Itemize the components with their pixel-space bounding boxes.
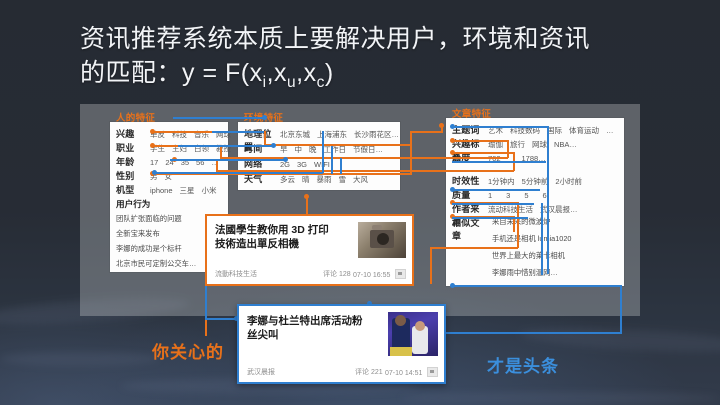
slide-title: 资讯推荐系统本质上要解决用户，环境和资讯 的匹配：y = F(xi,xu,xc) [80,22,680,100]
slide-canvas: 资讯推荐系统本质上要解决用户，环境和资讯 的匹配：y = F(xi,xu,xc)… [0,0,720,405]
similar-item: 手机还是相机 lumia1020 [492,234,571,244]
cloud-streak [0,352,160,366]
cloud-streak [400,392,720,404]
row-values: 多云晴暴雨雪大风 [280,174,375,185]
news-card-tech[interactable]: 法國學生教你用 3D 打印 技術造出單反相機 流動科技生活 评论 128 07-… [205,214,414,286]
row-values: iphone三星小米 [150,185,224,196]
row-label: 性别 [116,169,150,182]
similar-item: 世界上最大的莱卡相机 [492,251,565,261]
news-card-title: 李娜与杜兰特出席活动粉 丝尖叫 [247,314,363,342]
row-values: 2G3GWIFI [280,160,337,169]
news-dislike-button[interactable] [395,269,406,279]
behavior-item: 李娜的成功是个标杆 [116,244,182,254]
news-dislike-button[interactable] [427,367,438,377]
news-time: 07-10 14:51 [385,370,422,377]
news-source: 武汉晨报 [247,367,275,377]
news-thumbnail-event [388,312,438,356]
row-values: 1分钟内5分钟前2小时前 [488,176,589,187]
behavior-item: 团队扩张面临的问题 [116,214,182,224]
caption-you-care-about: 你关心的 [152,338,224,363]
row-label: 年龄 [116,155,150,168]
news-time: 07-10 16:55 [353,272,390,279]
row-values: 1356 [488,191,554,200]
news-comments: 评论 128 [323,269,351,279]
news-card-sports[interactable]: 李娜与杜兰特出席活动粉 丝尖叫 武汉晨报 评论 221 07-10 14:51 [237,304,446,384]
news-source: 流動科技生活 [215,269,257,279]
row-values: 早中晚工作日节假日… [280,144,390,155]
title-line-1: 资讯推荐系统本质上要解决用户，环境和资讯 [80,22,680,56]
behavior-item: 北京市民可定制公交车… [116,259,196,269]
row-label: 机型 [116,183,150,196]
row-values: 北京东城上海浦东长沙雨花区… [280,129,406,140]
title-line-2: 的匹配：y = F(xi,xu,xc) [80,56,680,100]
row-label: 时效性 [452,174,488,187]
news-card-title: 法國學生教你用 3D 打印 技術造出單反相機 [215,223,329,251]
behavior-item: 全新宝来发布 [116,229,160,239]
row-label: 职业 [116,141,150,154]
news-thumbnail-camera [358,222,406,258]
row-values: 流动科技生活武汉晨报… [488,204,585,215]
caption-is-the-headline: 才是头条 [487,352,559,377]
behavior-heading: 用户行为 [116,198,150,210]
similar-label: 相似文章 [452,216,488,242]
row-label: 兴趣 [116,127,150,140]
news-comments: 评论 221 [355,367,383,377]
title-line-2-prefix: 的匹配： [80,59,182,87]
formula: y = F(xi,xu,xc) [182,59,334,87]
row-label: 主题词 [452,123,488,136]
